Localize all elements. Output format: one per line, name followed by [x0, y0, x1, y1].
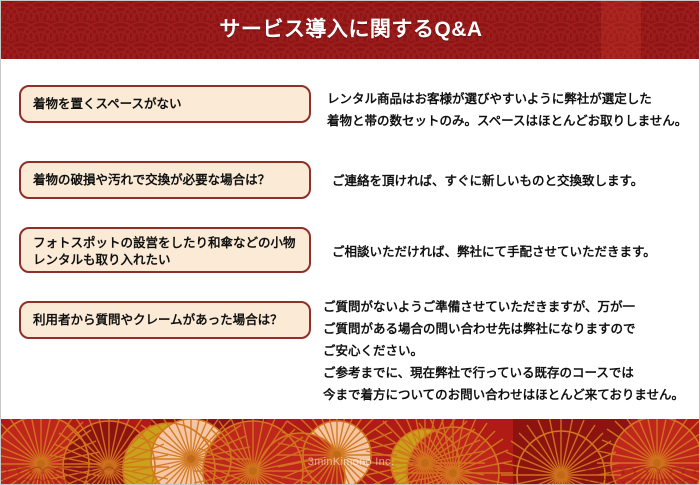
answer-text-4: ご質問がないようご準備させていただきますが、万が一 ご質問がある場合の問い合わせ…	[323, 296, 695, 406]
slide-header: サービス導入に関するQ&A	[1, 1, 700, 59]
question-box-1: 着物を置くスペースがない	[19, 85, 311, 123]
kiku-decoration-band	[1, 419, 700, 485]
question-box-2: 着物の破損や汚れで交換が必要な場合は？	[19, 161, 311, 199]
answer-text-1: レンタル商品はお客様が選びやすいように弊社が選定した 着物と帯の数セットのみ。ス…	[327, 88, 691, 132]
page-title: サービス導入に関するQ&A	[1, 1, 700, 59]
question-box-4: 利用者から質問やクレームがあった場合は？	[19, 301, 311, 339]
answer-text-2: ご連絡を頂ければ、すぐに新しいものと交換致します。	[332, 170, 692, 192]
qa-row: 利用者から質問やクレームがあった場合は？ ご質問がないようご準備させていただきま…	[1, 291, 700, 411]
qa-row: フォトスポットの設営をしたり和傘などの小物 レンタルも取り入れたい ご相談いただ…	[1, 217, 700, 285]
question-text-3: フォトスポットの設営をしたり和傘などの小物 レンタルも取り入れたい	[33, 235, 296, 269]
qa-list: 着物を置くスペースがない レンタル商品はお客様が選びやすいように弊社が選定した …	[1, 59, 700, 419]
question-text-2: 着物の破損や汚れで交換が必要な場合は？	[33, 172, 270, 189]
question-text-1: 着物を置くスペースがない	[33, 96, 182, 113]
qa-row: 着物の破損や汚れで交換が必要な場合は？ ご連絡を頂ければ、すぐに新しいものと交換…	[1, 149, 700, 211]
slide-canvas: サービス導入に関するQ&A 着物を置くスペースがない レンタル商品はお客様が選び…	[0, 0, 700, 485]
footer-company-name: 3minKimono Inc.	[1, 456, 700, 468]
question-text-4: 利用者から質問やクレームがあった場合は？	[33, 312, 283, 329]
answer-text-3: ご相談いただければ、弊社にて手配させていただきます。	[332, 241, 692, 263]
question-box-3: フォトスポットの設営をしたり和傘などの小物 レンタルも取り入れたい	[19, 227, 311, 273]
qa-row: 着物を置くスペースがない レンタル商品はお客様が選びやすいように弊社が選定した …	[1, 73, 700, 135]
